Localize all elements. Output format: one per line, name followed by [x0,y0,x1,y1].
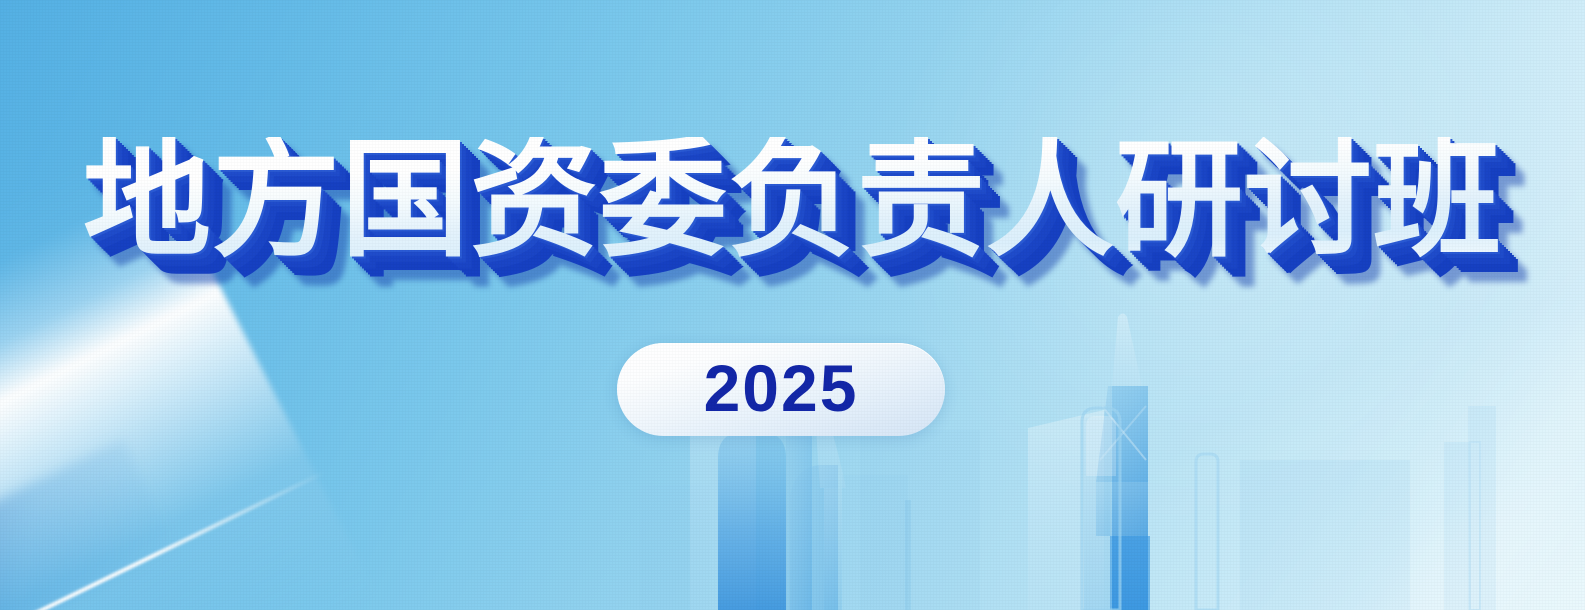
banner-title-text: 地方国资委负责人研讨班 [83,137,1502,265]
light-beam-top-right-secondary-icon [1549,0,1585,610]
year-badge-label: 2025 [704,355,859,425]
year-badge: 2025 [617,343,945,436]
banner-hero: 地方国资委负责人研讨班 2025 [0,0,1585,610]
light-beam-top-right-icon [1152,0,1585,610]
page-title: 地方国资委负责人研讨班 [0,137,1585,265]
